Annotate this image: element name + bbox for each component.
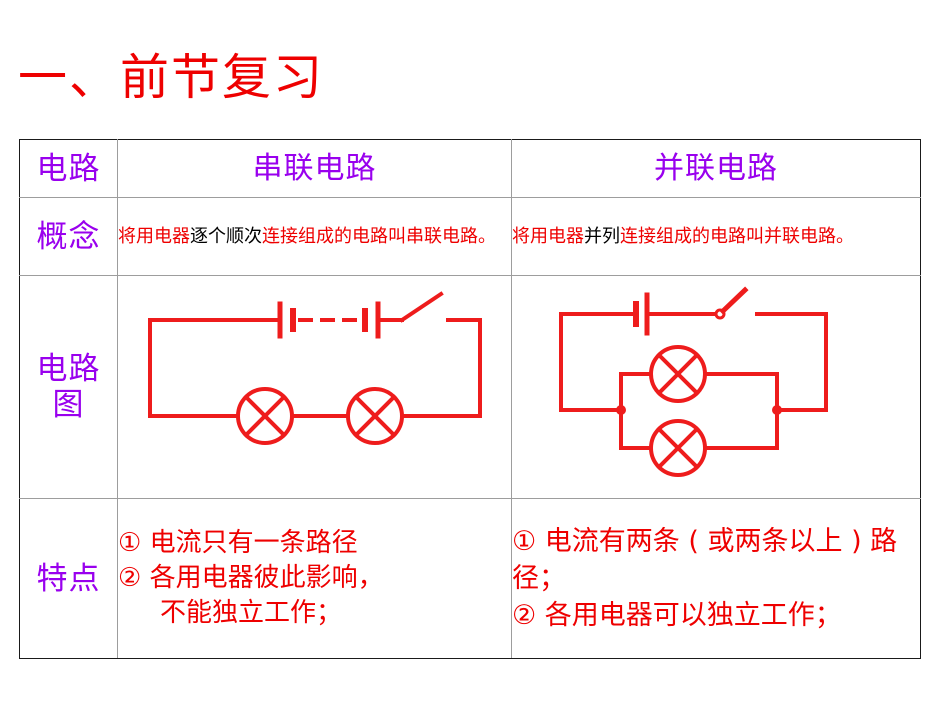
row-label-circuit-diagram-line1: 电路: [20, 351, 117, 387]
table-header-row: 电路 串联电路 并联电路: [20, 140, 921, 198]
header-cell-parallel: 并联电路: [512, 140, 921, 198]
table-row-features: 特点 ① 电流只有一条路径 ② 各用电器彼此影响， 不能独立工作； ① 电流有两…: [20, 499, 921, 659]
circuit-comparison-table: 电路 串联电路 并联电路 概念 将用电器逐个顺次连接组成的电路叫串联电路。 将用…: [19, 139, 921, 659]
series-circuit-svg: [130, 282, 500, 492]
parallel-feature-1: ① 电流有两条 ( 或两条以上 ) 路: [512, 523, 920, 560]
parallel-feature-1-cont: 径；: [512, 560, 920, 597]
parallel-circuit-diagram: [512, 282, 920, 492]
parallel-concept-part3: 连接组成的电路叫并联电路。: [620, 226, 854, 247]
series-feature-2-cont: 不能独立工作；: [118, 596, 511, 631]
page-title: 一、前节复习: [18, 49, 324, 107]
junction-dot-left: [616, 405, 626, 415]
row-label-features: 特点: [20, 499, 118, 659]
series-circuit-diagram: [118, 282, 511, 492]
series-concept-part2: 逐个顺次: [190, 226, 262, 247]
parallel-features-cell: ① 电流有两条 ( 或两条以上 ) 路 径； ② 各用电器可以独立工作；: [512, 499, 921, 659]
switch-lever: [402, 294, 441, 320]
header-cell-series: 串联电路: [118, 140, 512, 198]
parallel-feature-2: ② 各用电器可以独立工作；: [512, 597, 920, 634]
row-label-concept: 概念: [20, 198, 118, 276]
series-concept-cell: 将用电器逐个顺次连接组成的电路叫串联电路。: [118, 198, 512, 276]
parallel-concept-part2: 并列: [584, 226, 620, 247]
row-label-circuit-diagram-line2: 图: [20, 387, 117, 423]
table-row-diagram: 电路 图: [20, 276, 921, 499]
series-feature-1: ① 电流只有一条路径: [118, 526, 511, 561]
switch-lever: [723, 290, 745, 311]
parallel-circuit-svg: [541, 282, 891, 492]
parallel-diagram-cell: [512, 276, 921, 499]
series-diagram-cell: [118, 276, 512, 499]
row-label-circuit-diagram: 电路 图: [20, 276, 118, 499]
parallel-concept-part1: 将用电器: [512, 226, 584, 247]
series-features-cell: ① 电流只有一条路径 ② 各用电器彼此影响， 不能独立工作；: [118, 499, 512, 659]
junction-dot-right: [772, 405, 782, 415]
table-row-concept: 概念 将用电器逐个顺次连接组成的电路叫串联电路。 将用电器并列连接组成的电路叫并…: [20, 198, 921, 276]
series-concept-part3: 连接组成的电路叫串联电路。: [262, 226, 496, 247]
parallel-concept-cell: 将用电器并列连接组成的电路叫并联电路。: [512, 198, 921, 276]
series-concept-part1: 将用电器: [118, 226, 190, 247]
header-cell-circuit: 电路: [20, 140, 118, 198]
series-feature-2: ② 各用电器彼此影响，: [118, 561, 511, 596]
